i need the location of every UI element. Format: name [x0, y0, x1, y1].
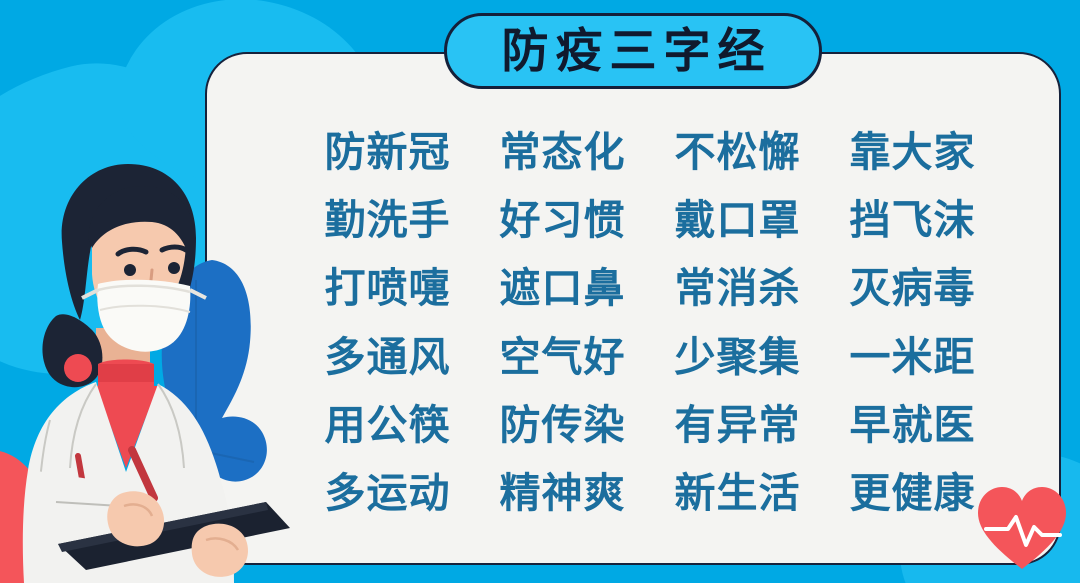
- phrase-cell: 少聚集: [650, 323, 825, 391]
- phrase-cell: 一米距: [825, 323, 1000, 391]
- phrase-cell: 灭病毒: [825, 255, 1000, 323]
- phrase-cell: 有异常: [650, 391, 825, 459]
- phrase-cell: 挡飞沫: [825, 186, 1000, 254]
- phrase-cell: 常消杀: [650, 255, 825, 323]
- phrase-cell: 用公筷: [300, 391, 475, 459]
- phrase-cell: 多运动: [300, 460, 475, 528]
- doctor-illustration: [0, 150, 290, 583]
- phrase-cell: 多通风: [300, 323, 475, 391]
- phrase-cell: 打喷嚏: [300, 255, 475, 323]
- phrase-cell: 戴口罩: [650, 186, 825, 254]
- phrase-cell: 靠大家: [825, 118, 1000, 186]
- phrase-cell: 防传染: [475, 391, 650, 459]
- title-pill: 防疫三字经: [444, 13, 822, 89]
- phrase-grid: 防新冠 常态化 不松懈 靠大家 勤洗手 好习惯 戴口罩 挡飞沫 打喷嚏 遮口鼻 …: [300, 118, 1000, 528]
- phrase-cell: 不松懈: [650, 118, 825, 186]
- heart-pulse-icon: [974, 483, 1070, 575]
- page-title: 防疫三字经: [495, 28, 772, 75]
- doctor-figure-icon: [0, 150, 290, 583]
- phrase-cell: 常态化: [475, 118, 650, 186]
- phrase-cell: 防新冠: [300, 118, 475, 186]
- phrase-cell: 空气好: [475, 323, 650, 391]
- phrase-cell: 新生活: [650, 460, 825, 528]
- poster-root: 防疫三字经 防新冠 常态化 不松懈 靠大家 勤洗手 好习惯 戴口罩 挡飞沫 打喷…: [0, 0, 1080, 583]
- phrase-cell: 好习惯: [475, 186, 650, 254]
- phrase-cell: 勤洗手: [300, 186, 475, 254]
- phrase-cell: 早就医: [825, 391, 1000, 459]
- phrase-cell: 精神爽: [475, 460, 650, 528]
- phrase-cell: 遮口鼻: [475, 255, 650, 323]
- heart-pulse-badge: [974, 483, 1070, 575]
